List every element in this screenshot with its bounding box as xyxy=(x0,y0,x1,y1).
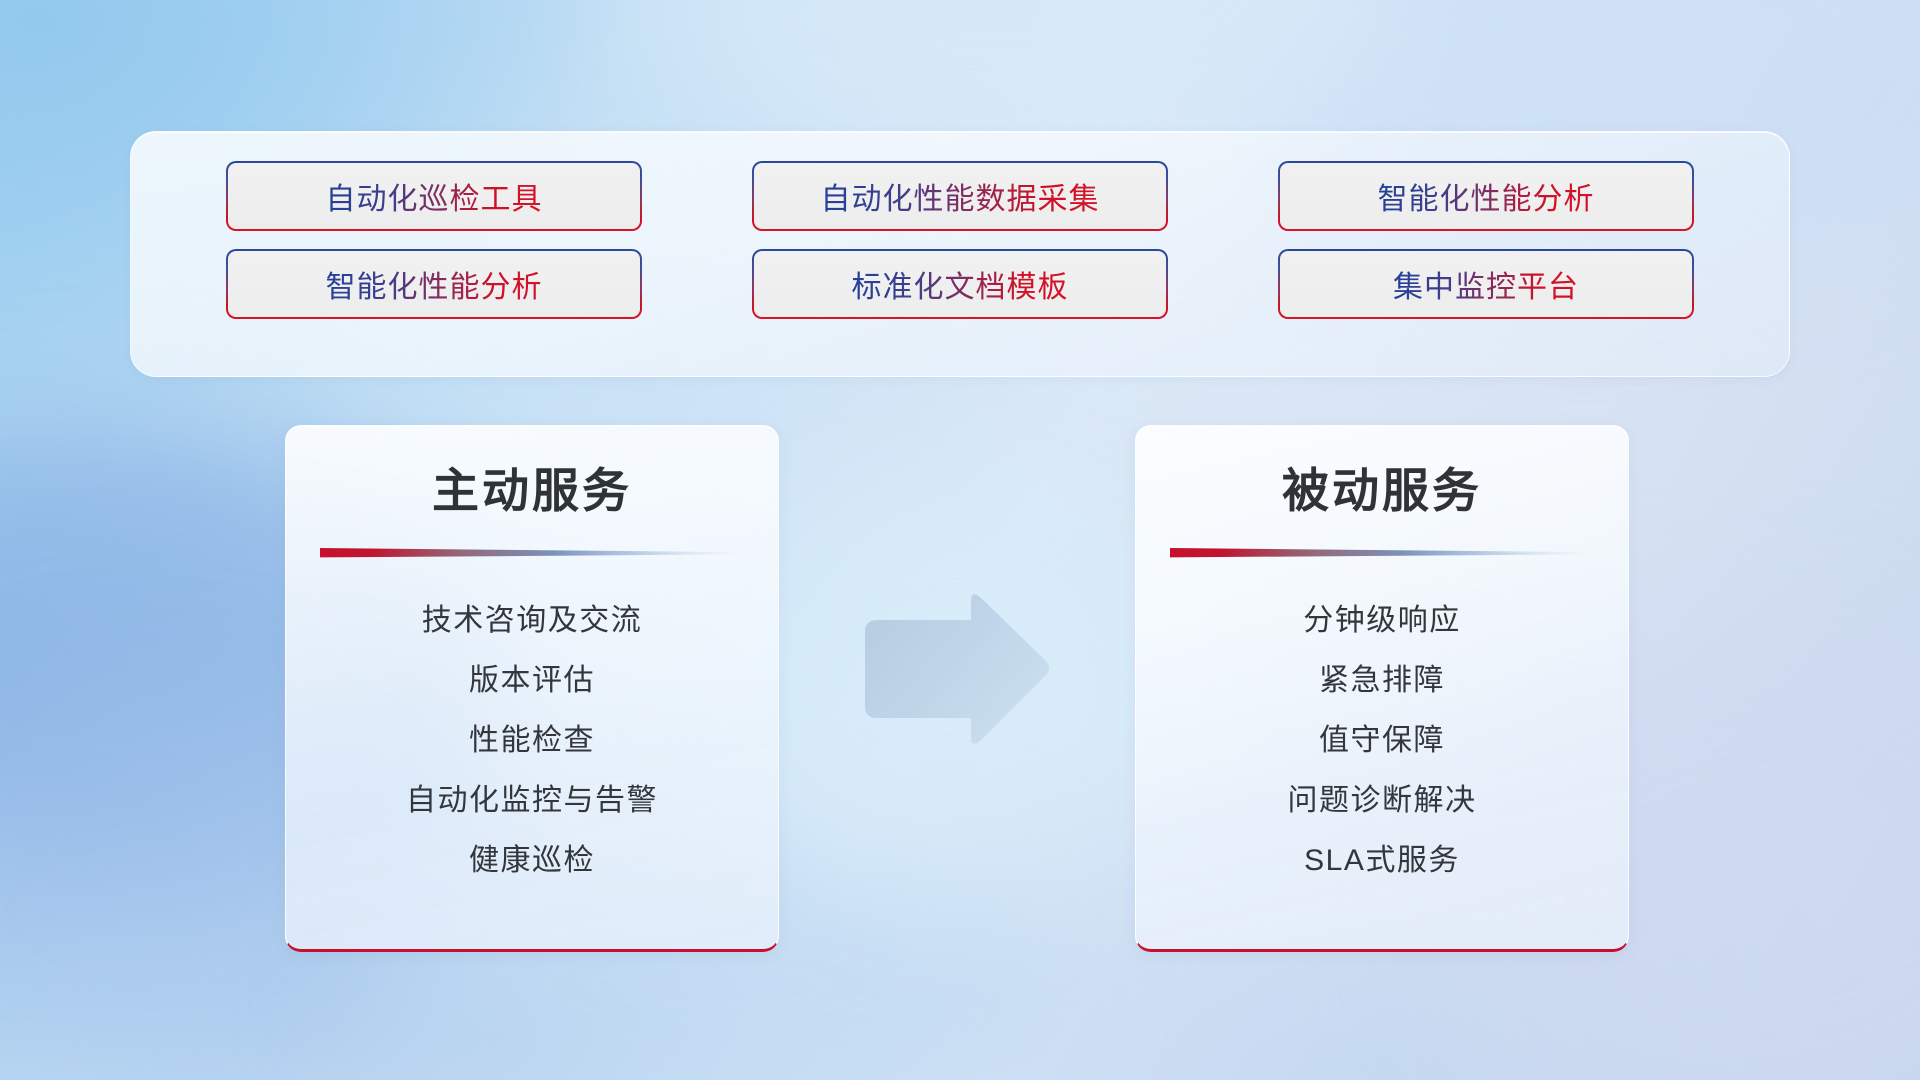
capability-pill-label: 自动化性能数据采集 xyxy=(821,174,1100,218)
service-card-divider xyxy=(320,545,744,559)
service-list-item: 自动化监控与告警 xyxy=(286,771,778,831)
capability-pill-label: 智能化性能分析 xyxy=(1378,174,1595,218)
capability-pill-inner: 智能化性能分析 xyxy=(1280,163,1692,229)
service-card-proactive[interactable]: 主动服务 技术咨询及交流 版本评估 性能检查 xyxy=(285,425,779,952)
service-list-item: 性能检查 xyxy=(286,711,778,771)
service-list-item: 技术咨询及交流 xyxy=(286,591,778,651)
capability-pill-label: 标准化文档模板 xyxy=(852,262,1069,306)
divider-wedge-icon xyxy=(1170,545,1594,559)
arrow-right-glyph xyxy=(855,588,1055,752)
service-list-item: 健康巡检 xyxy=(286,831,778,891)
service-item-list: 技术咨询及交流 版本评估 性能检查 自动化监控与告警 健康巡检 xyxy=(286,591,778,891)
arrow-right-icon xyxy=(855,588,1055,752)
capability-pill[interactable]: 自动化巡检工具 xyxy=(226,161,642,231)
capability-pill-label: 智能化性能分析 xyxy=(326,262,543,306)
capability-pill-inner: 智能化性能分析 xyxy=(228,251,640,317)
service-list-item: 值守保障 xyxy=(1136,711,1628,771)
capability-pill-inner: 集中监控平台 xyxy=(1280,251,1692,317)
divider-wedge-icon xyxy=(320,545,744,559)
slide-canvas: 自动化巡检工具 自动化性能数据采集 智能化性能分析 智能化性能分析 xyxy=(0,0,1920,1080)
service-list-item: 版本评估 xyxy=(286,651,778,711)
capability-pill-label: 自动化巡检工具 xyxy=(326,174,543,218)
capability-pill[interactable]: 智能化性能分析 xyxy=(226,249,642,319)
capability-pill[interactable]: 标准化文档模板 xyxy=(752,249,1168,319)
service-list-item: 问题诊断解决 xyxy=(1136,771,1628,831)
service-list-item: 紧急排障 xyxy=(1136,651,1628,711)
service-card-reactive[interactable]: 被动服务 分钟级响应 紧急排障 值守保障 xyxy=(1135,425,1629,952)
service-list-item: SLA式服务 xyxy=(1136,831,1628,891)
service-card-divider xyxy=(1170,545,1594,559)
capability-pill-inner: 标准化文档模板 xyxy=(754,251,1166,317)
capability-pill-inner: 自动化性能数据采集 xyxy=(754,163,1166,229)
capability-panel: 自动化巡检工具 自动化性能数据采集 智能化性能分析 智能化性能分析 xyxy=(130,131,1790,377)
capability-pill-label: 集中监控平台 xyxy=(1393,262,1579,306)
capability-pill[interactable]: 智能化性能分析 xyxy=(1278,161,1694,231)
capability-pill-inner: 自动化巡检工具 xyxy=(228,163,640,229)
service-list-item: 分钟级响应 xyxy=(1136,591,1628,651)
service-item-list: 分钟级响应 紧急排障 值守保障 问题诊断解决 SLA式服务 xyxy=(1136,591,1628,891)
service-card-title: 被动服务 xyxy=(1136,465,1628,517)
capability-pill[interactable]: 集中监控平台 xyxy=(1278,249,1694,319)
service-card-title: 主动服务 xyxy=(286,465,778,517)
capability-pill-grid: 自动化巡检工具 自动化性能数据采集 智能化性能分析 智能化性能分析 xyxy=(226,161,1694,319)
capability-pill[interactable]: 自动化性能数据采集 xyxy=(752,161,1168,231)
